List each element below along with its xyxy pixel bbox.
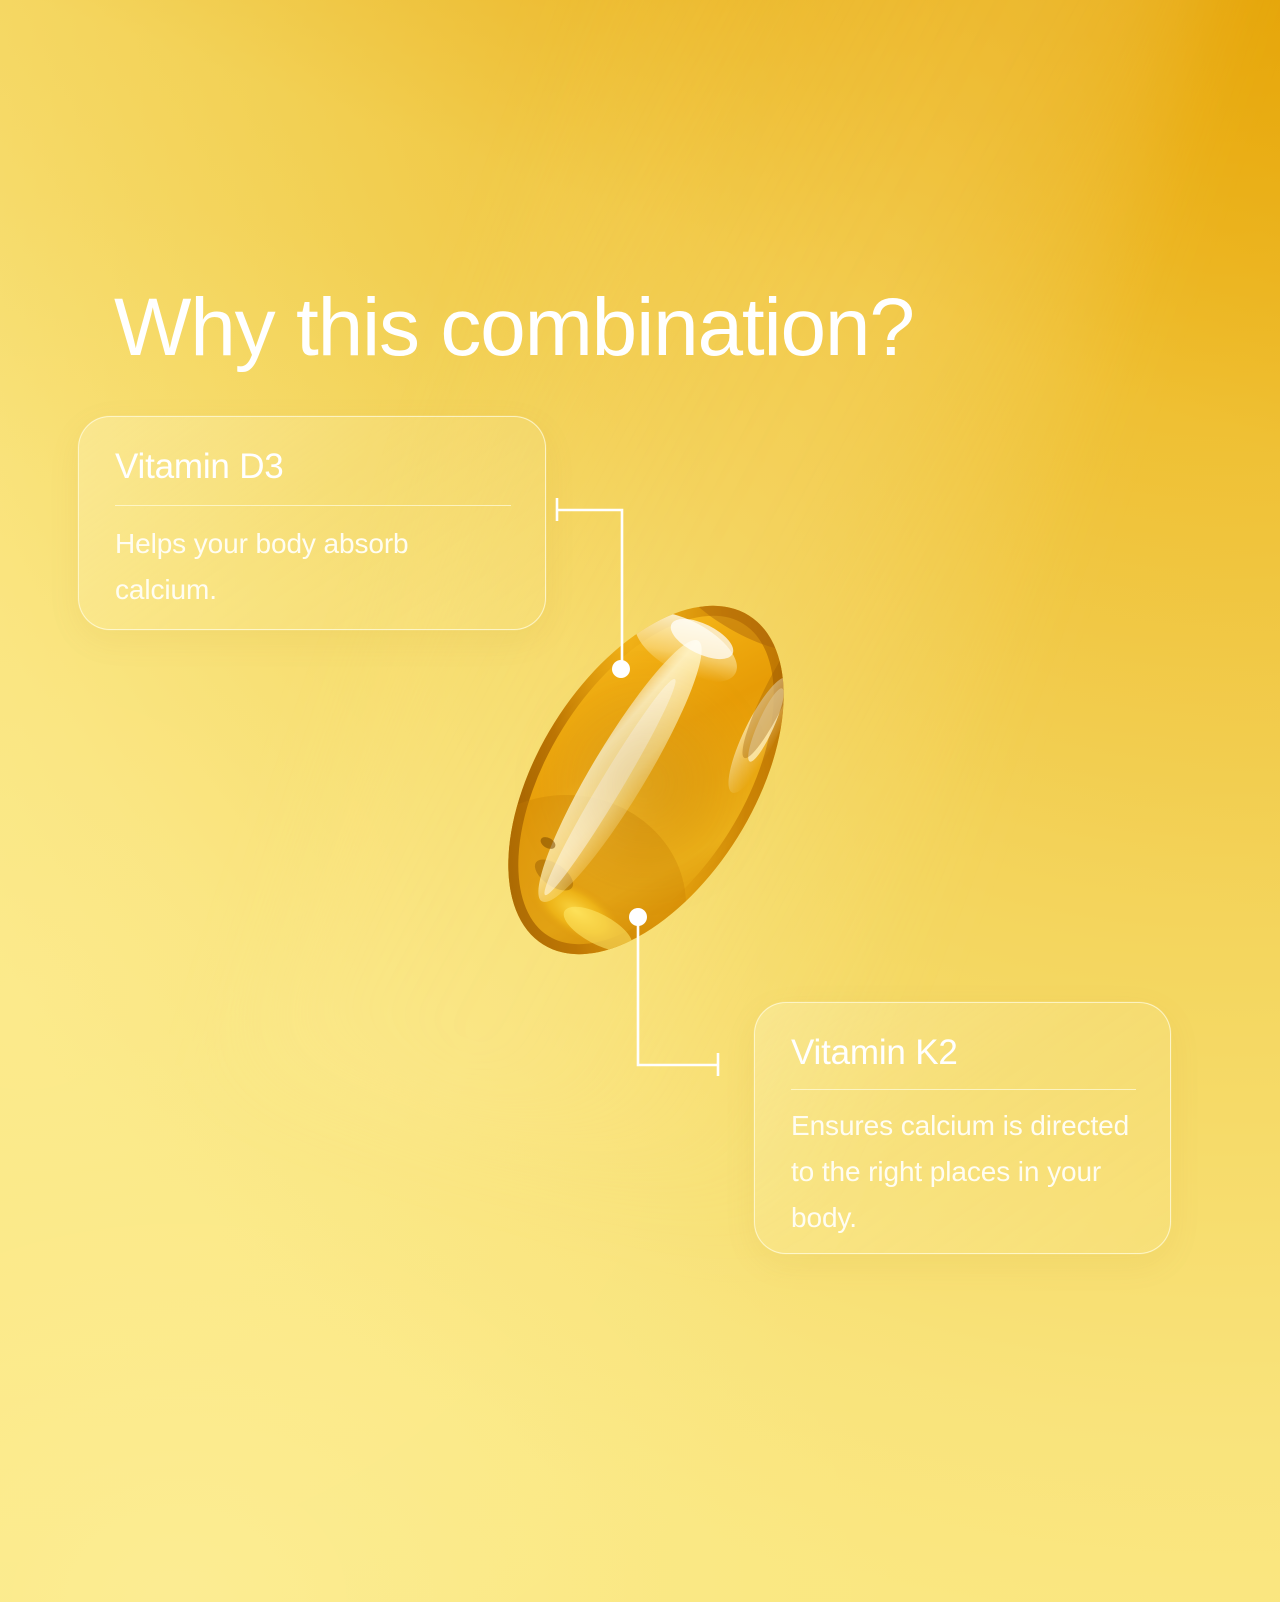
info-card-vitamin-k2[interactable]: Vitamin K2 Ensures calcium is directed t… <box>754 1002 1171 1254</box>
capsule-drop-shadow <box>500 633 790 933</box>
card-title-vitamin-k2: Vitamin K2 <box>791 1033 1136 1073</box>
poster-canvas: Why this combination? <box>0 0 1280 1602</box>
card-divider <box>791 1089 1136 1090</box>
info-card-vitamin-d3[interactable]: Vitamin D3 Helps your body absorb calciu… <box>78 416 546 630</box>
card-title-vitamin-d3: Vitamin D3 <box>115 447 511 487</box>
card-divider <box>115 505 511 506</box>
page-title: Why this combination? <box>114 287 914 369</box>
card-body-vitamin-k2: Ensures calcium is directed to the right… <box>791 1103 1136 1241</box>
card-body-vitamin-d3: Helps your body absorb calcium. <box>115 521 511 613</box>
softgel-capsule <box>470 575 822 985</box>
